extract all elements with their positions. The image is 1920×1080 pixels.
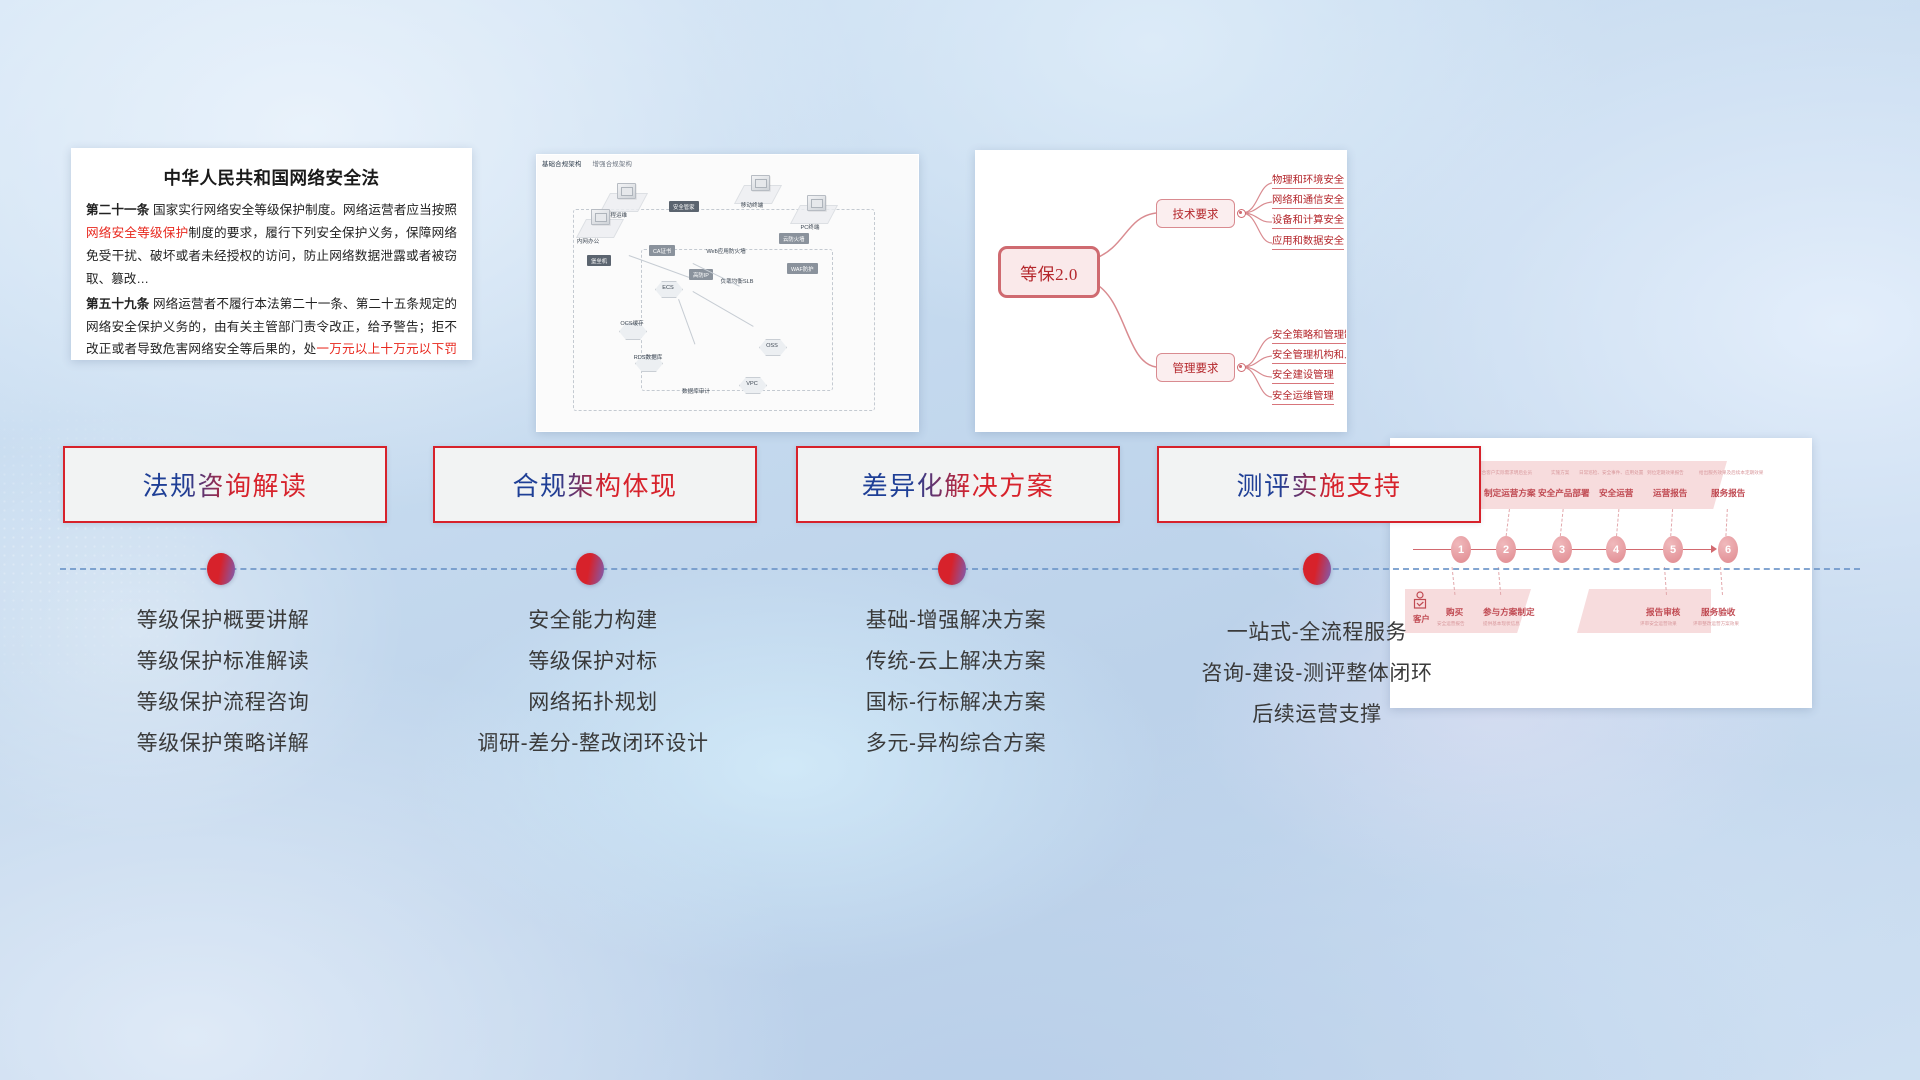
top-step-4-sub: 到位定期效果报告 bbox=[1647, 470, 1684, 476]
law-card-title: 中华人民共和国网络安全法 bbox=[86, 165, 457, 190]
bottom-step-3-sub: 评审安全运营效果 bbox=[1640, 621, 1677, 627]
list-item: 调研-差分-整改闭环设计 bbox=[433, 723, 753, 764]
mindmap-card[interactable]: 等保2.0 技术要求 管理要求 物理和环境安全 网络和通信安全 设备和计算安全 … bbox=[975, 150, 1347, 432]
progress-bead-4[interactable] bbox=[1303, 553, 1331, 585]
bullet-list-4: 一站式-全流程服务 咨询-建设-测评整体闭环 后续运营支撑 bbox=[1157, 612, 1477, 735]
list-item: 安全能力构建 bbox=[433, 600, 753, 641]
top-step-3-sub: 日常巡检、安全事件、应用处置 bbox=[1579, 470, 1643, 476]
node-db-audit: 数据库审计 bbox=[671, 387, 721, 395]
node-ecs: ECS bbox=[655, 285, 681, 291]
chip-waf-protect: WAF防护 bbox=[787, 263, 818, 274]
top-step-2-headline: 安全产品部署 bbox=[1538, 487, 1590, 499]
mindmap-root[interactable]: 等保2.0 bbox=[998, 246, 1100, 298]
bullet-list-3: 基础-增强解决方案 传统-云上解决方案 国标-行标解决方案 多元-异构综合方案 bbox=[796, 600, 1116, 764]
architecture-tabs[interactable]: 基础合规架构 增强合规架构 bbox=[542, 159, 641, 168]
node-ocs-cache: OCS缓存 bbox=[609, 319, 655, 327]
top-step-1-headline: 制定运营方案 bbox=[1484, 487, 1536, 499]
chip-cloud-firewall: 云防火墙 bbox=[779, 233, 809, 244]
architecture-tab-enhanced[interactable]: 增强合规架构 bbox=[593, 161, 633, 168]
server-mobile bbox=[751, 175, 770, 191]
heading-box-1[interactable]: 法规咨询解读 bbox=[63, 446, 387, 523]
timeline-node-3[interactable]: 3 bbox=[1552, 536, 1572, 563]
server-remote bbox=[617, 183, 636, 199]
node-vpc: VPC bbox=[739, 381, 765, 387]
bottom-step-2-headline: 参与方案制定 bbox=[1483, 606, 1535, 618]
progress-bead-1[interactable] bbox=[207, 553, 235, 585]
list-item: 等级保护标准解读 bbox=[63, 641, 383, 682]
mindmap-leaf-device[interactable]: 设备和计算安全 bbox=[1272, 211, 1344, 229]
timeline-arrow bbox=[1711, 545, 1717, 553]
heading-label-4: 测评实施支持 bbox=[1236, 466, 1401, 503]
list-item: 等级保护流程咨询 bbox=[63, 682, 383, 723]
timeline-node-5[interactable]: 5 bbox=[1663, 536, 1683, 563]
list-item: 一站式-全流程服务 bbox=[1157, 612, 1477, 653]
law-article-1-number: 第二十一条 bbox=[86, 203, 149, 217]
customer-avatar-icon bbox=[1411, 591, 1429, 611]
progress-bead-2[interactable] bbox=[576, 553, 604, 585]
heading-label-3: 差异化解决方案 bbox=[862, 466, 1055, 503]
list-item: 咨询-建设-测评整体闭环 bbox=[1157, 653, 1477, 694]
top-step-4-headline: 运营报告 bbox=[1653, 487, 1687, 499]
law-body-text: 国家实行网络安全等级保护制度。网络运营者应当按照 bbox=[149, 203, 457, 217]
server-pc bbox=[807, 195, 826, 211]
node-pc-terminal: PC终端 bbox=[787, 223, 833, 231]
top-step-5-headline: 服务报告 bbox=[1711, 487, 1745, 499]
node-mobile-terminal: 移动终端 bbox=[729, 201, 775, 209]
architecture-tab-basic[interactable]: 基础合规架构 bbox=[542, 161, 582, 168]
bullet-list-1: 等级保护概要讲解 等级保护标准解读 等级保护流程咨询 等级保护策略详解 bbox=[63, 600, 383, 764]
node-intranet-office: 内网办公 bbox=[565, 237, 611, 245]
node-oss: OSS bbox=[759, 343, 785, 349]
mindmap-leaf-construct[interactable]: 安全建设管理 bbox=[1272, 366, 1334, 384]
architecture-card[interactable]: 基础合规架构 增强合规架构 远程运维 内网办公 移动终端 PC终端 堡垒机 CA… bbox=[536, 154, 919, 432]
list-item: 国标-行标解决方案 bbox=[796, 682, 1116, 723]
list-item: 网络拓扑规划 bbox=[433, 682, 753, 723]
list-item: 等级保护策略详解 bbox=[63, 723, 383, 764]
list-item: 多元-异构综合方案 bbox=[796, 723, 1116, 764]
timeline-node-1[interactable]: 1 bbox=[1451, 536, 1471, 563]
mindmap-leaf-operation[interactable]: 安全运维管理 bbox=[1272, 387, 1334, 405]
law-highlight-text: 网络安全等级保护 bbox=[86, 226, 188, 240]
mindmap-leaf-policy[interactable]: 安全策略和管理制度 bbox=[1272, 326, 1347, 344]
architecture-diagram: 远程运维 内网办公 移动终端 PC终端 堡垒机 CA证书 高防IP 安全管家 W… bbox=[543, 171, 912, 425]
server-office bbox=[591, 209, 610, 225]
bottom-step-4-sub: 评审整改运营方案效果 bbox=[1693, 621, 1739, 627]
list-item: 基础-增强解决方案 bbox=[796, 600, 1116, 641]
mindmap-dot-management bbox=[1237, 363, 1246, 372]
heading-box-4[interactable]: 测评实施支持 bbox=[1157, 446, 1481, 523]
mindmap-leaf-network[interactable]: 网络和通信安全 bbox=[1272, 191, 1344, 209]
chip-security-butler: 安全管家 bbox=[669, 201, 699, 212]
bottom-step-2-sub: 提供基本现状信息 bbox=[1483, 621, 1520, 627]
bullet-list-2: 安全能力构建 等级保护对标 网络拓扑规划 调研-差分-整改闭环设计 bbox=[433, 600, 753, 764]
node-rds-db: RDS数据库 bbox=[625, 353, 671, 361]
heading-label-2: 合规架构体现 bbox=[512, 466, 677, 503]
top-step-1-sub: 结合客户实际需求明后业员 bbox=[1477, 470, 1532, 476]
chip-ca-cert: CA证书 bbox=[649, 245, 675, 256]
chip-bastion: 堡垒机 bbox=[587, 255, 611, 266]
list-item: 后续运营支撑 bbox=[1157, 694, 1477, 735]
heading-box-3[interactable]: 差异化解决方案 bbox=[796, 446, 1120, 523]
timeline-node-4[interactable]: 4 bbox=[1606, 536, 1626, 563]
mindmap-branch-management[interactable]: 管理要求 bbox=[1156, 353, 1235, 382]
heading-box-2[interactable]: 合规架构体现 bbox=[433, 446, 757, 523]
timeline-node-6[interactable]: 6 bbox=[1718, 536, 1738, 563]
progress-bead-3[interactable] bbox=[938, 553, 966, 585]
list-item: 等级保护对标 bbox=[433, 641, 753, 682]
timeline-node-2[interactable]: 2 bbox=[1496, 536, 1516, 563]
connector-bottom-4 bbox=[1720, 567, 1723, 595]
top-step-3-headline: 安全运营 bbox=[1599, 487, 1633, 499]
top-step-5-sub: 给出服务效果及后续本定期效果 bbox=[1699, 470, 1763, 476]
bottom-step-3-headline: 报告审核 bbox=[1646, 606, 1680, 618]
top-step-2-sub: 实施方案 bbox=[1551, 470, 1569, 476]
law-article-2: 第五十九条 网络运营者不履行本法第二十一条、第二十五条规定的网络安全保护义务的，… bbox=[86, 293, 457, 360]
mindmap-leaf-application[interactable]: 应用和数据安全 bbox=[1272, 232, 1344, 250]
law-article-2-number: 第五十九条 bbox=[86, 297, 149, 311]
list-item: 等级保护概要讲解 bbox=[63, 600, 383, 641]
bottom-step-4-headline: 服务验收 bbox=[1701, 606, 1735, 618]
mindmap-leaf-physical[interactable]: 物理和环境安全 bbox=[1272, 171, 1344, 189]
mindmap-dot-technical bbox=[1237, 209, 1246, 218]
mindmap-branch-technical[interactable]: 技术要求 bbox=[1156, 199, 1235, 228]
mindmap-leaf-org[interactable]: 安全管理机构和人员 bbox=[1272, 346, 1347, 364]
heading-label-1: 法规咨询解读 bbox=[142, 466, 307, 503]
law-article-1: 第二十一条 国家实行网络安全等级保护制度。网络运营者应当按照网络安全等级保护制度… bbox=[86, 199, 457, 291]
list-item: 传统-云上解决方案 bbox=[796, 641, 1116, 682]
node-web-waf: Web应用防火墙 bbox=[691, 247, 761, 255]
law-card[interactable]: 中华人民共和国网络安全法 第二十一条 国家实行网络安全等级保护制度。网络运营者应… bbox=[71, 148, 472, 360]
